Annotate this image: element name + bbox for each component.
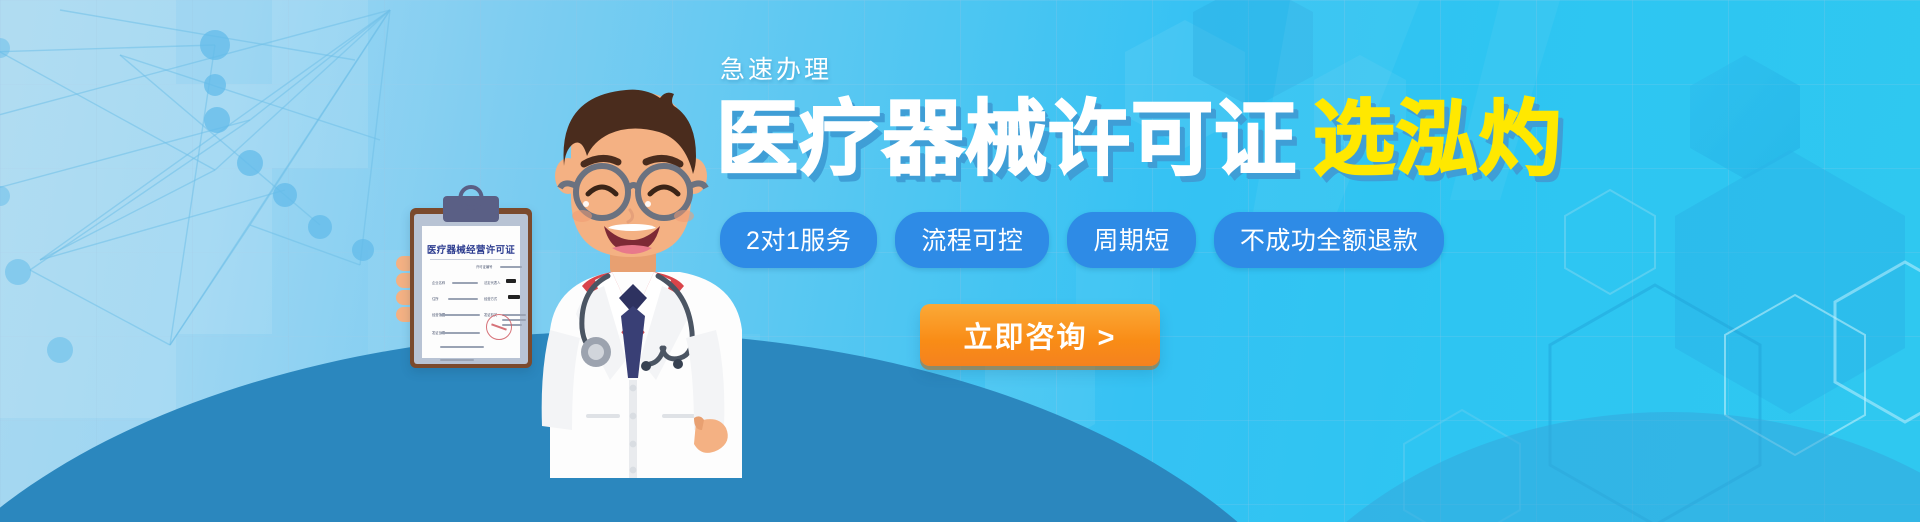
certificate-field-1: 法定代表人 — [484, 280, 500, 285]
banner-content: 急速办理 医疗器械许可证 选泓灼 2对1服务 流程可控 周期短 不成功全额退款 … — [716, 50, 1596, 366]
feature-pill-list: 2对1服务 流程可控 周期短 不成功全额退款 — [720, 212, 1596, 268]
certificate-number-label: 许可证编号 — [476, 264, 492, 269]
headline-primary: 医疗器械许可证 — [716, 98, 1297, 182]
clipboard-clip-icon — [443, 196, 499, 222]
certificate-field-3: 经营方式 — [484, 296, 497, 301]
network-nodes — [0, 30, 374, 363]
consult-now-button[interactable]: 立即咨询 > — [920, 304, 1160, 366]
feature-pill-3[interactable]: 周期短 — [1067, 212, 1196, 268]
feature-pill-2[interactable]: 流程可控 — [895, 212, 1049, 268]
clipboard-certificate: 医疗器械经营许可证 许可证编号 企业名称 法定代表人 住所 经营方式 经营范围 … — [410, 208, 532, 368]
certificate-title: 医疗器械经营许可证 — [422, 242, 520, 256]
certificate-paper: 医疗器械经营许可证 许可证编号 企业名称 法定代表人 住所 经营方式 经营范围 … — [422, 226, 520, 358]
hero-banner: 医疗器械经营许可证 许可证编号 企业名称 法定代表人 住所 经营方式 经营范围 … — [0, 0, 1920, 522]
feature-pill-1[interactable]: 2对1服务 — [720, 212, 877, 268]
clipboard-inner: 医疗器械经营许可证 许可证编号 企业名称 法定代表人 住所 经营方式 经营范围 … — [414, 214, 528, 364]
headline: 医疗器械许可证 选泓灼 — [716, 98, 1596, 182]
headline-highlight: 选泓灼 — [1313, 98, 1562, 182]
network-lines — [0, 10, 390, 345]
certificate-field-2: 住所 — [432, 296, 439, 301]
official-seal-icon — [486, 314, 512, 340]
feature-pill-4[interactable]: 不成功全额退款 — [1214, 212, 1445, 268]
eyebrow-text: 急速办理 — [720, 50, 1596, 86]
certificate-field-0: 企业名称 — [432, 280, 445, 285]
clipboard-board: 医疗器械经营许可证 许可证编号 企业名称 法定代表人 住所 经营方式 经营范围 … — [410, 208, 532, 368]
